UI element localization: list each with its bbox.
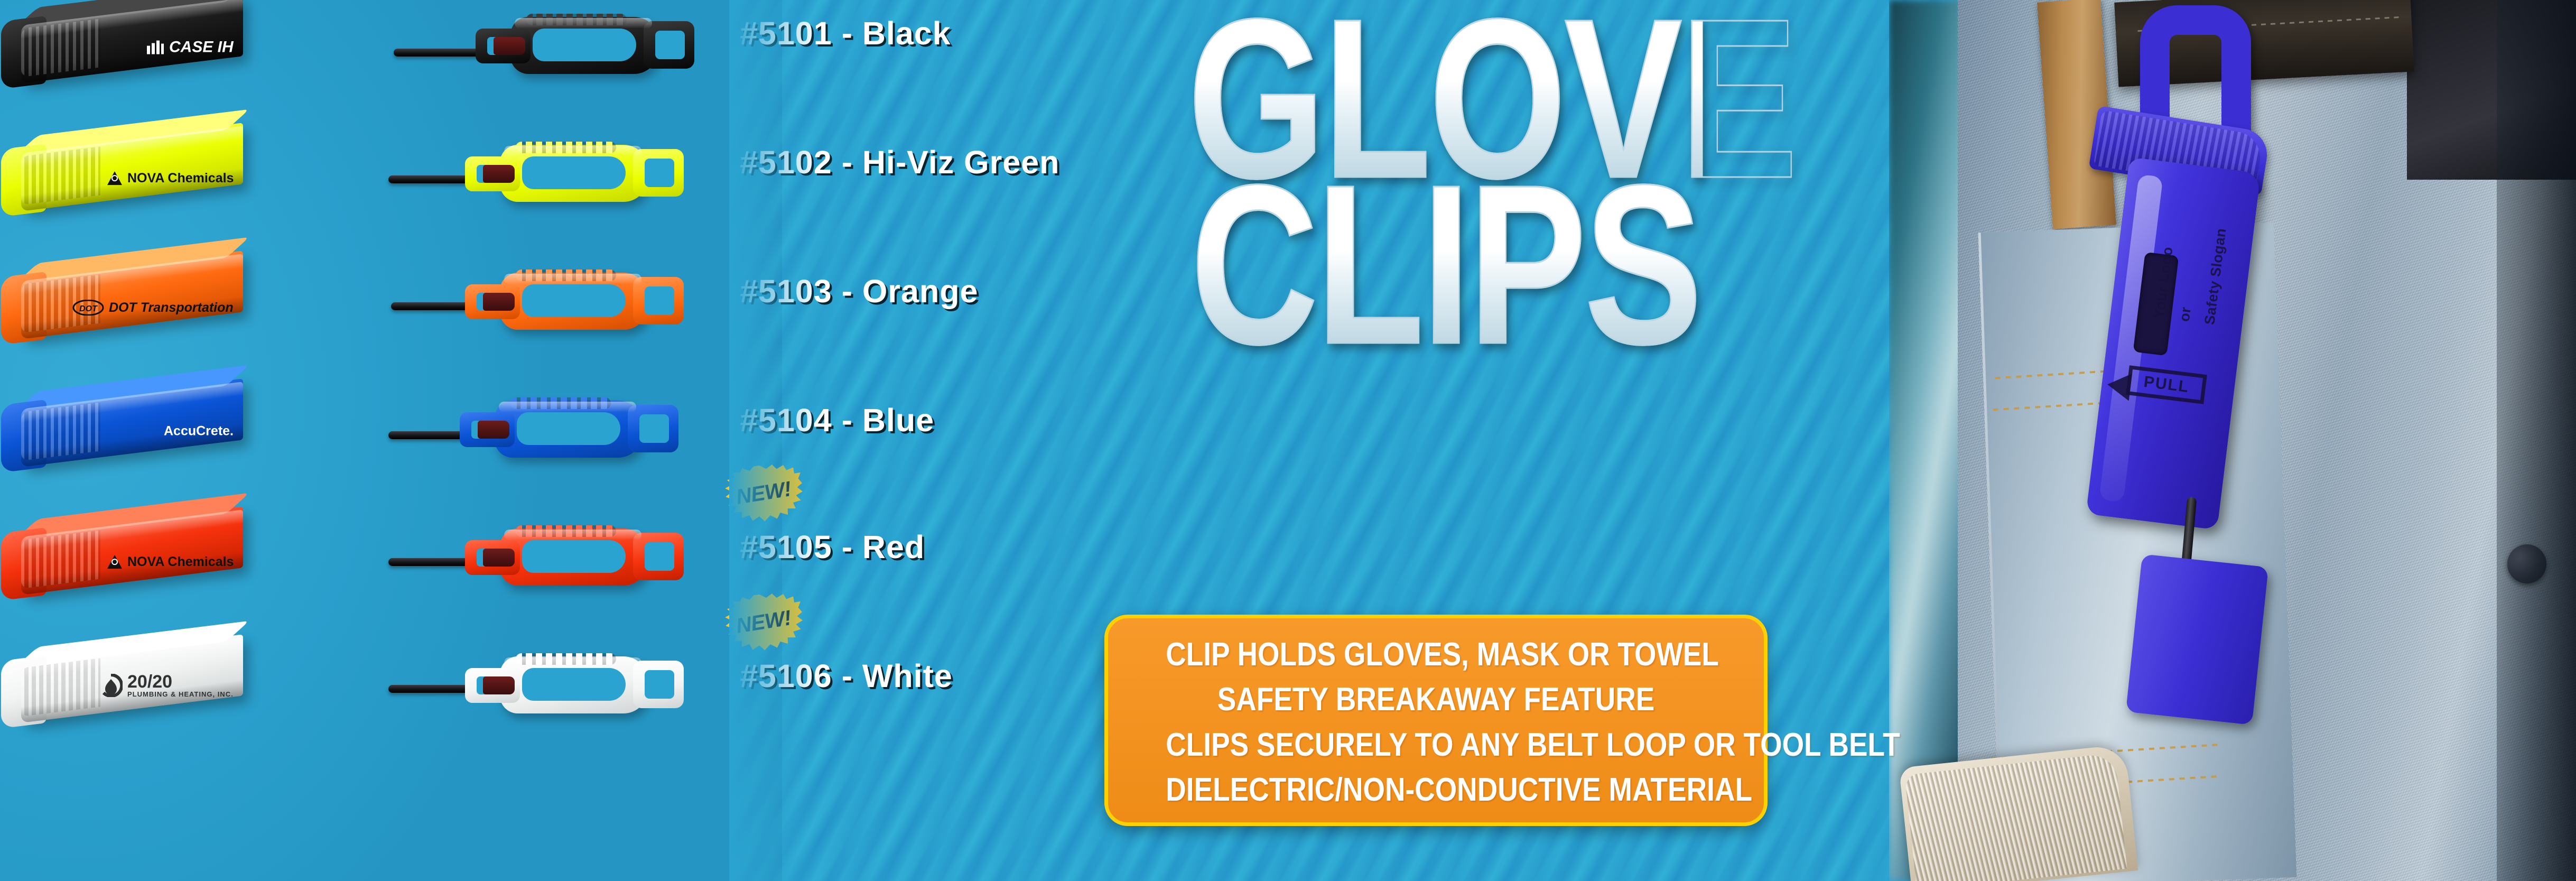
imprint-text: DOT Transportation [109, 301, 234, 314]
clamp-ring-opening [533, 29, 636, 61]
product-row[interactable]: CASE IH [0, 5, 793, 85]
hero-clip-imprint-area: Your Logo or Safety Slogan [2117, 156, 2274, 346]
cord-plug [483, 549, 515, 567]
clip-imprint-logo: CASE IH [146, 40, 234, 55]
clip-imprint-logo: DOTDOT Transportation [72, 300, 234, 316]
cord-plug [483, 293, 515, 311]
flame-circle-icon [99, 674, 123, 697]
clamp-gloss [515, 18, 652, 29]
clamp-loop-opening [655, 31, 685, 59]
glove-clip-sleeve: NOVA Chemicals [21, 123, 243, 211]
glove-clip-sleeve: 20/20PLUMBING & HEATING, INC. [21, 634, 243, 723]
imprint-text: AccuCrete. [164, 425, 234, 438]
imprint-text: NOVA Chemicals [127, 172, 234, 185]
glove-clip-clamp [465, 137, 692, 209]
product-color-list: CASE IHNOVA ChemicalsDOTDOT Transportati… [0, 0, 793, 881]
page-title: GLOVE CLIPS [1115, 0, 1775, 355]
clamp-loop-opening [645, 286, 674, 315]
breakaway-cord [388, 175, 476, 183]
glove-clip-clamp [465, 265, 692, 337]
glove-clip-sleeve: DOTDOT Transportation [21, 251, 243, 339]
cord-plug [483, 165, 515, 183]
feature-line: CLIP HOLDS GLOVES, MASK OR TOWEL [1166, 638, 1706, 671]
hero-imprint-line-2: or [2177, 306, 2194, 322]
feature-callout-box: CLIP HOLDS GLOVES, MASK OR TOWELSAFETY B… [1104, 615, 1768, 826]
case-ih-bars-icon [146, 41, 164, 54]
cord-plug [478, 421, 509, 439]
clip-imprint-logo: AccuCrete. [164, 425, 234, 438]
hero-glove-clip-blue: Your Logo or Safety Slogan PULL [2077, 5, 2304, 629]
cord-plug [494, 37, 525, 55]
product-row[interactable]: NOVA Chemicals [0, 517, 793, 596]
clamp-loop-opening [639, 414, 669, 443]
feature-line: DIELECTRIC/NON-CONDUCTIVE MATERIAL [1166, 774, 1706, 806]
clamp-ring-opening [522, 284, 626, 317]
breakaway-cord [388, 431, 470, 439]
clamp-loop-opening [645, 159, 674, 187]
imprint-text: NOVA Chemicals [127, 555, 234, 569]
product-row[interactable]: NOVA Chemicals [0, 133, 793, 212]
title-line-clips: CLIPS [1188, 175, 1703, 355]
hero-clip-lower-jaw [2126, 554, 2268, 725]
nova-triangle-icon [107, 171, 123, 186]
hero-imprint-line-3: Safety Slogan [2201, 227, 2229, 326]
clip-imprint-logo: NOVA Chemicals [107, 554, 234, 569]
glove-clips-promo-banner: Your Logo or Safety Slogan PULL CASE IHN… [0, 0, 2576, 881]
clamp-gloss [504, 530, 641, 540]
breakaway-cord [391, 302, 473, 310]
cord-plug [483, 676, 515, 694]
breakaway-cord [388, 685, 473, 693]
product-row[interactable]: 20/20PLUMBING & HEATING, INC. [0, 645, 793, 724]
product-row[interactable]: DOTDOT Transportation [0, 261, 793, 340]
imprint-text: 20/20 [127, 673, 172, 691]
photo-right-vignette [2497, 0, 2576, 881]
nova-triangle-icon [107, 554, 123, 569]
glove-clip-sleeve: AccuCrete. [21, 378, 243, 467]
glove-clip-clamp [460, 393, 687, 465]
clamp-ring-opening [517, 412, 620, 445]
clamp-gloss [499, 402, 636, 412]
clip-imprint-logo: NOVA Chemicals [107, 171, 234, 186]
glove-clip-clamp [465, 649, 692, 721]
clamp-gloss [504, 146, 641, 156]
breakaway-cord [388, 558, 473, 566]
clamp-gloss [504, 274, 641, 284]
clamp-loop-opening [645, 542, 674, 571]
hero-imprint-line-1: Your Logo [2151, 246, 2176, 319]
feature-line: SAFETY BREAKAWAY FEATURE [1166, 683, 1706, 716]
clamp-ring-opening [522, 668, 626, 701]
breakaway-cord [394, 49, 486, 57]
glove-clip-clamp [476, 10, 703, 81]
product-row[interactable]: AccuCrete. [0, 389, 793, 468]
clamp-gloss [504, 657, 641, 668]
svg-text:DOT: DOT [79, 304, 98, 313]
dot-circle-icon: DOT [72, 300, 104, 316]
work-glove-cuff-ribbing [1905, 753, 2127, 881]
glove-clip-clamp [465, 521, 692, 593]
clamp-loop-opening [645, 670, 674, 699]
clip-imprint-logo: 20/20PLUMBING & HEATING, INC. [99, 673, 234, 698]
clamp-ring-opening [522, 156, 626, 189]
glove-clip-sleeve: CASE IH [21, 0, 243, 84]
imprint-subtext: PLUMBING & HEATING, INC. [127, 691, 234, 698]
imprint-text: CASE IH [169, 40, 234, 55]
feature-line: CLIPS SECURELY TO ANY BELT LOOP OR TOOL … [1166, 729, 1706, 762]
clamp-ring-opening [522, 540, 626, 573]
glove-clip-sleeve: NOVA Chemicals [21, 506, 243, 595]
